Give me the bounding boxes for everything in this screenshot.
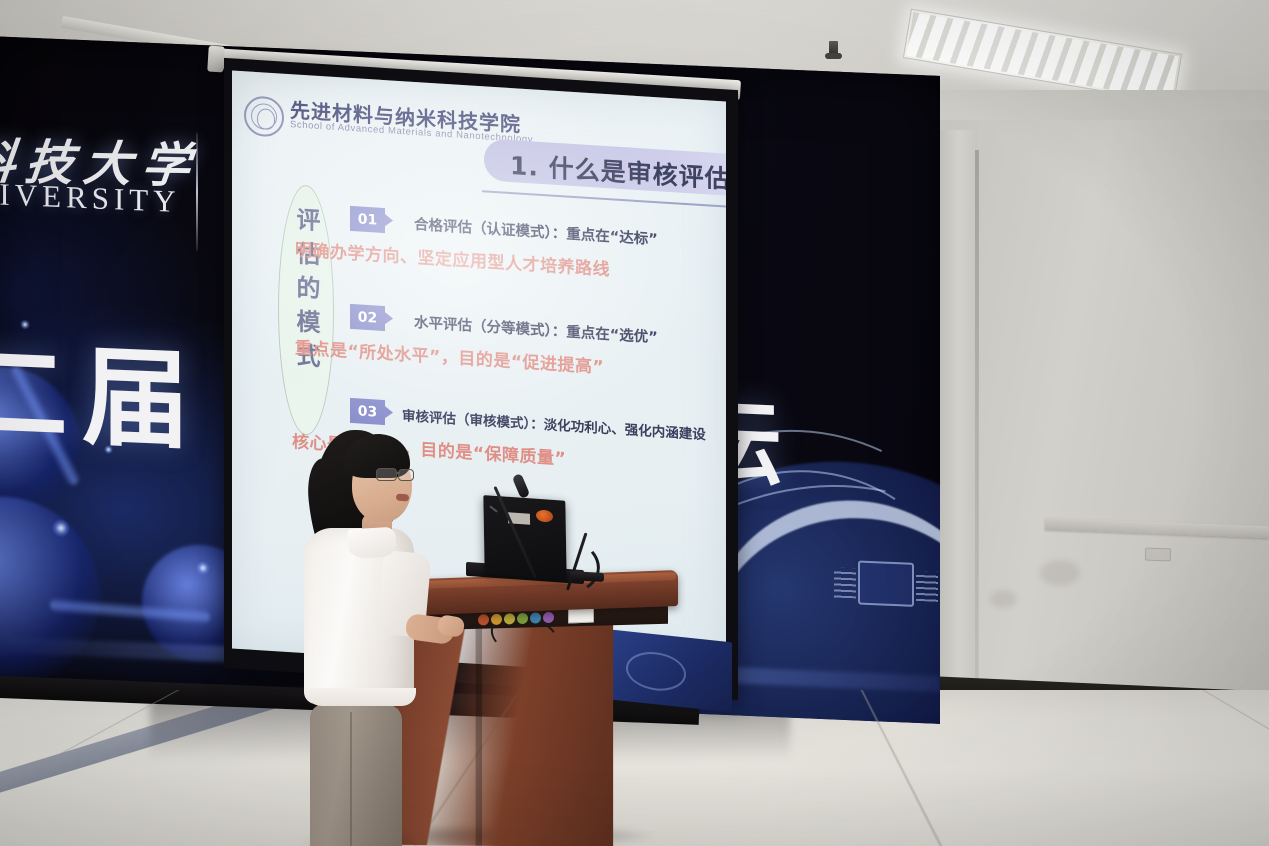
- decal-circle: [543, 611, 554, 622]
- sparkle-icon: [196, 561, 210, 576]
- speaker-mouth: [396, 493, 410, 501]
- right-wall: [930, 120, 1269, 740]
- wall-smudge: [990, 590, 1016, 608]
- eyeglasses-icon: [398, 469, 414, 481]
- wall-smudge: [1040, 560, 1080, 586]
- eyeglasses-bridge: [396, 472, 400, 474]
- eyeglasses-icon: [376, 468, 397, 481]
- decal-circle: [504, 613, 515, 624]
- podium-asset-label: [568, 608, 594, 624]
- slide-item-number: 01: [350, 206, 385, 233]
- slide-item-number: 02: [350, 304, 385, 331]
- backdrop-divider: [196, 133, 198, 251]
- slide-item-heading: 合格评估（认证模式）：重点在“达标”: [414, 213, 658, 249]
- decal-circle: [517, 612, 528, 623]
- decal-circle: [491, 613, 502, 624]
- decal-circle: [478, 614, 489, 625]
- wall-socket: [1145, 548, 1171, 562]
- molecule-node: [0, 493, 100, 691]
- chip-icon: [858, 560, 914, 606]
- shirt-collar: [347, 527, 397, 559]
- trouser-seam: [350, 712, 352, 846]
- wall-corner-edge: [975, 150, 979, 710]
- backdrop-university-en: NIVERSITY: [0, 175, 181, 220]
- microphone-base: [570, 571, 604, 582]
- shirt-hem: [304, 688, 416, 706]
- speaker-person: [288, 420, 448, 846]
- projection-screen-roller-cap: [207, 46, 225, 73]
- sprinkler-head-icon: [829, 41, 838, 56]
- backdrop-title-main: 二届: [0, 305, 204, 471]
- school-emblem-icon: [244, 95, 284, 138]
- lecture-room-photo: 科技大学 NIVERSITY 国际学术 二届 坛 先进材料与纳米科技学院 Sch…: [0, 0, 1269, 846]
- slide-item-heading: 水平评估（分等模式）：重点在“选优”: [414, 311, 658, 347]
- sparkle-icon: [52, 519, 70, 538]
- speaker-trousers: [310, 704, 402, 846]
- decal-circle: [530, 612, 541, 623]
